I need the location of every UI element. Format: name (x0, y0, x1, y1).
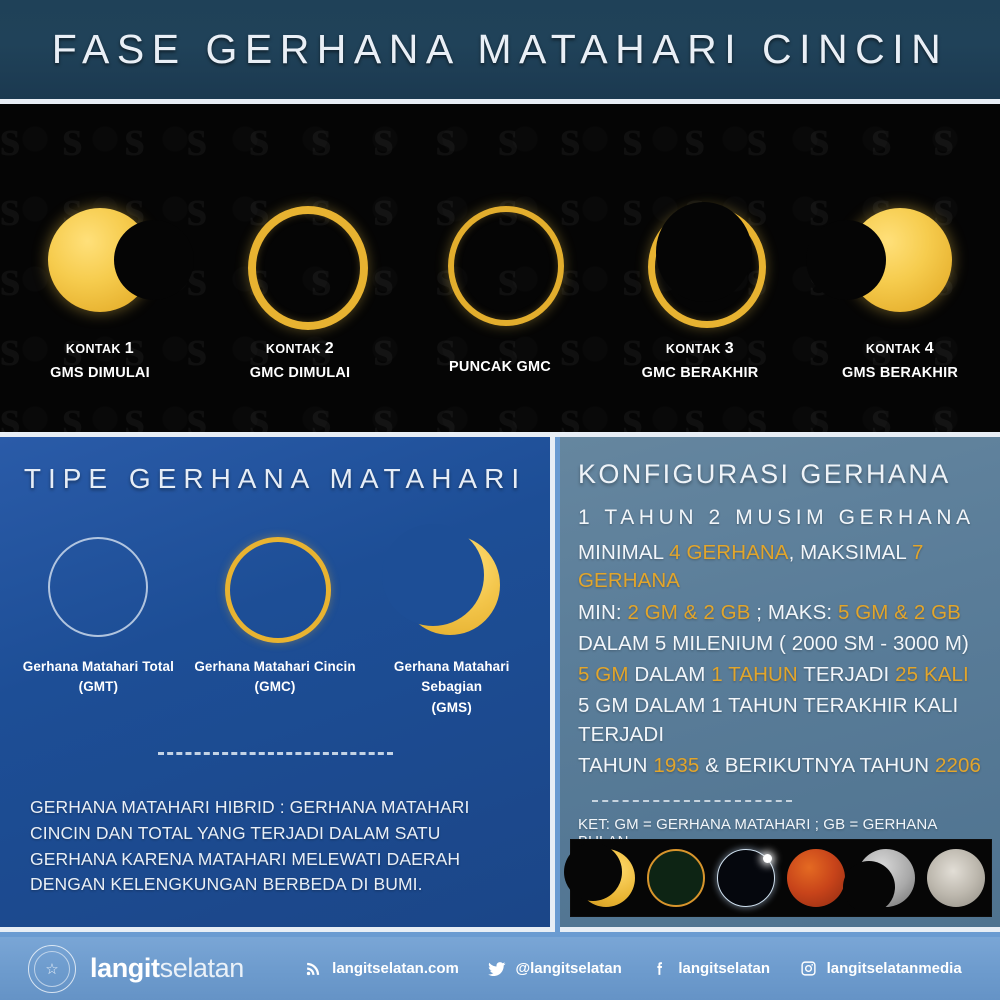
infographic-root: FASE GERHANA MATAHARI CINCIN sssssssssss… (0, 0, 1000, 1000)
total-solar-eclipse-corona-photo (717, 849, 775, 907)
config-panel-title: KONFIGURASI GERHANA (578, 459, 986, 490)
phase-item: PUNCAK GMC (400, 104, 600, 378)
crescent-solar-eclipse-photo (577, 849, 635, 907)
config-line-last-time: 5 GM DALAM 1 TAHUN TERAKHIR KALI TERJADI (578, 692, 986, 749)
type-item-gms: Gerhana Matahari Sebagian(GMS) (363, 533, 540, 718)
config-line-occurrences: 5 GM DALAM 1 TAHUN TERJADI 25 KALI (578, 661, 986, 689)
full-moon-photo (927, 849, 985, 907)
phase-sub-label: GMC BERAKHIR (642, 363, 759, 384)
circle-outline-icon (44, 533, 152, 641)
dashed-divider (158, 752, 393, 755)
twitter-icon (487, 959, 506, 978)
social-label: langitselatanmedia (827, 960, 962, 977)
social-twitter[interactable]: @langitselatan (487, 959, 621, 978)
phase-sub-label: GMS BERAKHIR (842, 363, 958, 384)
annular-ring-thick-icon (240, 200, 360, 320)
facebook-icon (650, 959, 669, 978)
eclipse-types-panel: TIPE GERHANA MATAHARI Gerhana Matahari T… (0, 437, 555, 932)
type-item-gmt: Gerhana Matahari Total(GMT) (10, 533, 187, 718)
annular-solar-eclipse-photo (647, 849, 705, 907)
seal-inner-emblem: ☆ (34, 951, 70, 987)
phase-sub-label: GMC DIMULAI (250, 363, 350, 384)
hybrid-eclipse-description: GERHANA MATAHARI HIBRID : GERHANA MATAHA… (30, 795, 524, 899)
brand-logo[interactable]: ☆ langitselatan (28, 945, 244, 993)
sun-partial-left-bite-icon (840, 200, 960, 320)
phase-kontak-label: KONTAK 4 (842, 338, 958, 361)
social-website[interactable]: langitselatan.com (304, 959, 459, 978)
rss-icon (304, 959, 323, 978)
social-label: langitselatan.com (332, 960, 459, 977)
phase-item: KONTAK 4 GMS BERAKHIR (800, 104, 1000, 383)
type-label: Gerhana Matahari Sebagian(GMS) (363, 657, 540, 718)
config-dashed-divider (592, 800, 792, 802)
phase-sub-label: PUNCAK GMC (449, 357, 551, 378)
type-label: Gerhana Matahari Total(GMT) (23, 657, 174, 698)
social-label: @langitselatan (515, 960, 621, 977)
brand-wordmark: langitselatan (90, 953, 244, 984)
phase-item: KONTAK 1 GMS DIMULAI (0, 104, 200, 383)
types-panel-title: TIPE GERHANA MATAHARI (0, 463, 550, 495)
config-line-season: 1 TAHUN 2 MUSIM GERHANA (578, 504, 986, 533)
sun-partial-right-bite-icon (40, 200, 160, 320)
phase-sub-label: GMS DIMULAI (50, 363, 150, 384)
eclipse-configuration-panel: KONFIGURASI GERHANA 1 TAHUN 2 MUSIM GERH… (560, 437, 1000, 932)
circle-gold-ring-icon (221, 533, 329, 641)
crescent-icon (398, 533, 506, 641)
header-bar: FASE GERHANA MATAHARI CINCIN (0, 0, 1000, 104)
phase-kontak-label: KONTAK 3 (642, 338, 759, 361)
social-instagram[interactable]: langitselatanmedia (799, 959, 962, 978)
annular-ring-even-icon (440, 200, 560, 320)
page-title: FASE GERHANA MATAHARI CINCIN (52, 26, 948, 73)
instagram-icon (799, 959, 818, 978)
type-label: Gerhana Matahari Cincin(GMC) (194, 657, 355, 698)
footer-bar: ☆ langitselatan langitselatan.com @langi… (0, 937, 1000, 1000)
annular-ring-offset-icon (640, 200, 760, 320)
config-line-millennium: DALAM 5 MILENIUM ( 2000 SM - 3000 M) (578, 630, 986, 658)
social-facebook[interactable]: langitselatan (650, 959, 770, 978)
partial-lunar-eclipse-photo (857, 849, 915, 907)
phase-item: KONTAK 3 GMC BERAKHIR (600, 104, 800, 383)
config-line-minimal: MINIMAL 4 GERHANA, MAKSIMAL 7 GERHANA (578, 539, 986, 596)
eclipse-photo-strip (570, 839, 992, 917)
config-line-min-maks: MIN: 2 GM & 2 GB ; MAKS: 5 GM & 2 GB (578, 599, 986, 627)
phase-item: KONTAK 2 GMC DIMULAI (200, 104, 400, 383)
total-lunar-eclipse-blood-moon-photo (787, 849, 845, 907)
type-item-gmc: Gerhana Matahari Cincin(GMC) (187, 533, 364, 718)
phase-kontak-label: KONTAK 1 (50, 338, 150, 361)
config-line-years: TAHUN 1935 & BERIKUTNYA TAHUN 2206 (578, 752, 986, 780)
eclipse-phases-section: ssssssssssssssssssssssssssssssssssssssss… (0, 104, 1000, 437)
social-label: langitselatan (678, 960, 770, 977)
langitselatan-seal-icon: ☆ (28, 945, 76, 993)
phase-kontak-label: KONTAK 2 (250, 338, 350, 361)
